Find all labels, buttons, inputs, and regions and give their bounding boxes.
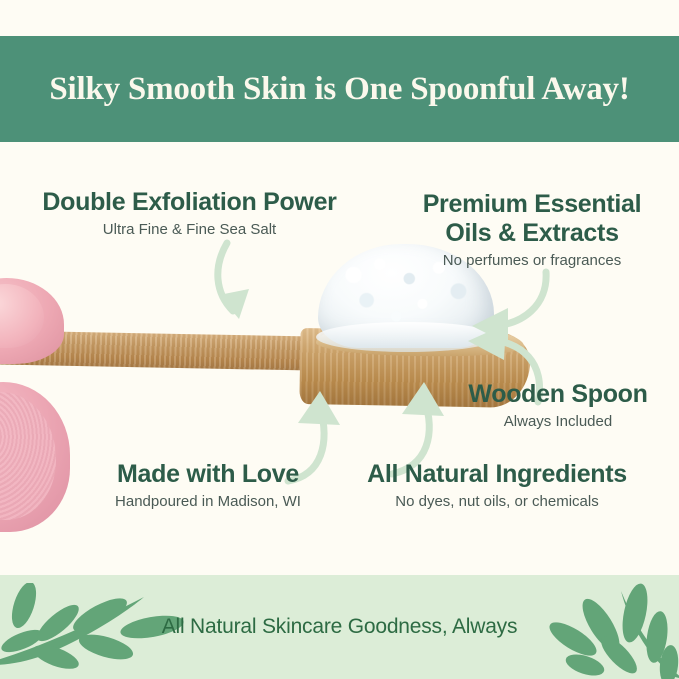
feature-title: Made with Love [58,460,358,489]
page-title: Silky Smooth Skin is One Spoonful Away! [49,71,629,108]
olive-branch-right-icon [543,579,679,679]
feature-subtitle: No perfumes or fragrances [396,251,668,271]
feature-subtitle: Ultra Fine & Fine Sea Salt [12,220,367,240]
feature-title: All Natural Ingredients [338,460,656,489]
feature-subtitle: Always Included [440,412,676,432]
feature-title: Premium Essential Oils & Extracts [396,190,668,248]
infographic-root: Silky Smooth Skin is One Spoonful Away! [0,0,679,679]
feature-title: Double Exfoliation Power [12,188,367,217]
finger-top [0,278,64,364]
feature-wooden-spoon: Wooden Spoon Always Included [440,380,676,431]
footer-banner: All Natural Skincare Goodness, Always [0,575,679,679]
footer-tagline: All Natural Skincare Goodness, Always [162,615,518,639]
feature-title: Wooden Spoon [440,380,676,409]
feature-subtitle: Handpoured in Madison, WI [58,492,358,512]
arrow-to-salt-from-exfoliation-icon [205,237,295,332]
feature-double-exfoliation: Double Exfoliation Power Ultra Fine & Fi… [12,188,367,239]
feature-made-with-love: Made with Love Handpoured in Madison, WI [58,460,358,511]
feature-subtitle: No dyes, nut oils, or chemicals [338,492,656,512]
feature-all-natural: All Natural Ingredients No dyes, nut oil… [338,460,656,511]
feature-premium-oils: Premium Essential Oils & Extracts No per… [396,190,668,270]
header-banner: Silky Smooth Skin is One Spoonful Away! [0,36,679,142]
